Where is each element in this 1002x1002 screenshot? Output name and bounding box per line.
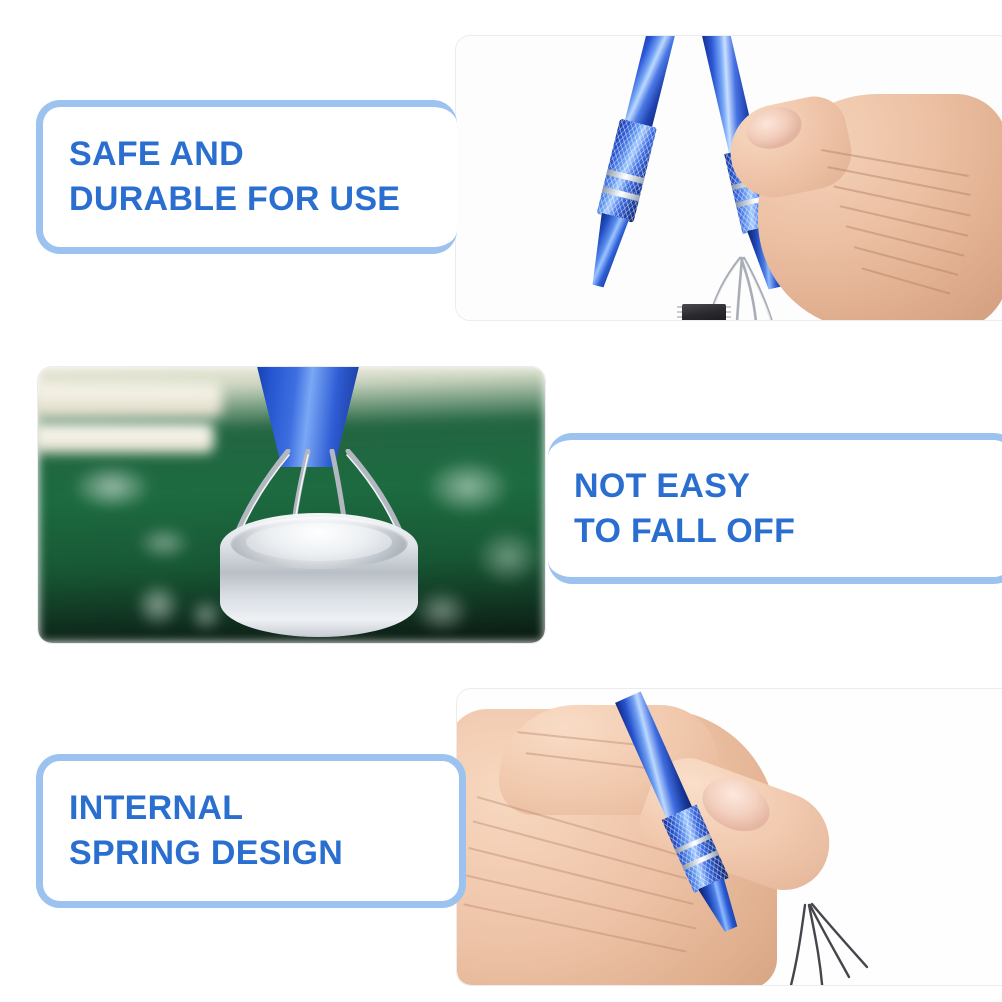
pcb-light-strip xyxy=(38,423,214,453)
callout-internal-spring: INTERNAL SPRING DESIGN xyxy=(36,754,466,908)
callout-not-easy-line-2: TO FALL OFF xyxy=(548,509,1002,554)
hand xyxy=(724,58,1002,320)
coin-cell-battery xyxy=(220,513,418,637)
callout-safe-durable-line-1: SAFE AND xyxy=(43,132,457,177)
chip-pins-left xyxy=(677,306,682,320)
smd-chip xyxy=(682,304,726,320)
callout-internal-spring-line-2: SPRING DESIGN xyxy=(43,831,459,876)
infographic-page: SAFE AND DURABLE FOR USE xyxy=(0,0,1002,1002)
callout-internal-spring-line-1: INTERNAL xyxy=(43,786,459,831)
photo-3-image xyxy=(457,689,1002,985)
photo-1-image xyxy=(456,36,1002,320)
callout-not-easy-line-1: NOT EASY xyxy=(548,464,1002,509)
battery-inner-rim xyxy=(246,523,392,561)
callout-safe-durable: SAFE AND DURABLE FOR USE xyxy=(36,100,457,254)
photo-2-image xyxy=(38,367,545,643)
tool-claw-prongs-open xyxy=(779,901,919,985)
callout-not-easy-fall-off: NOT EASY TO FALL OFF xyxy=(548,433,1002,584)
photo-tool-pair-with-chip xyxy=(455,35,1002,321)
tool-tapered-nose xyxy=(698,878,744,935)
callout-safe-durable-line-2: DURABLE FOR USE xyxy=(43,177,457,222)
photo-claws-gripping-coin-cell xyxy=(37,366,546,644)
pcb-light-strip xyxy=(38,383,222,417)
photo-hand-holding-tool-claws-open xyxy=(456,688,1002,986)
